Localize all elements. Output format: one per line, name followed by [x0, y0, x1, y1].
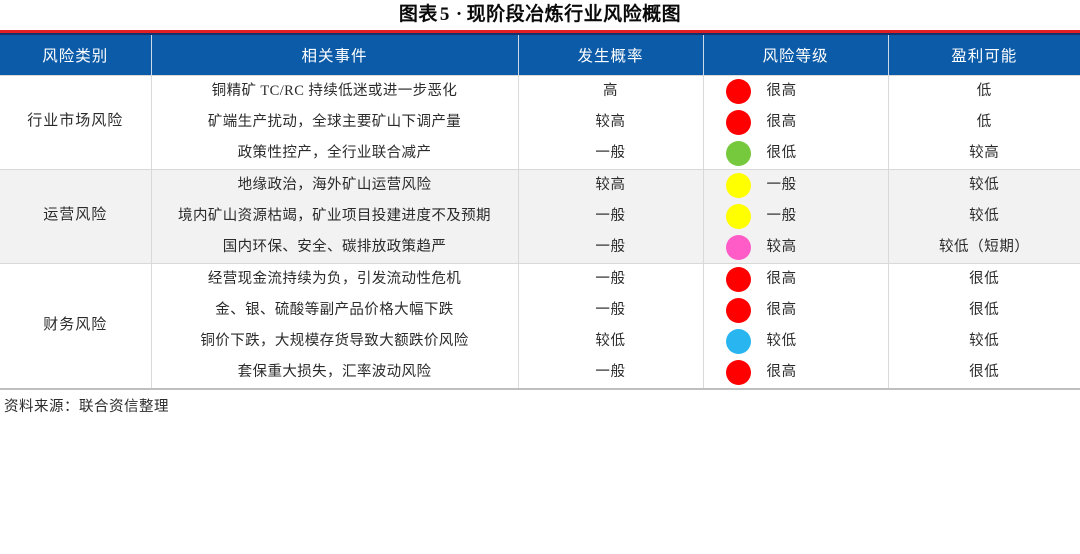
- risk-event-cell: 矿端生产扰动，全球主要矿山下调产量: [151, 107, 518, 138]
- table-header: 风险类别 相关事件 发生概率 风险等级 盈利可能: [0, 35, 1080, 75]
- risk-level-inner: 很高: [710, 298, 882, 323]
- table-row: 财务风险经营现金流持续为负，引发流动性危机一般很高很低: [0, 263, 1080, 295]
- probability-cell: 一般: [518, 357, 703, 388]
- risk-event-cell: 境内矿山资源枯竭，矿业项目投建进度不及预期: [151, 201, 518, 232]
- risk-level-cell: 一般: [703, 169, 888, 201]
- risk-level-inner: 很高: [710, 79, 882, 104]
- risk-level-label: 很高: [767, 299, 797, 321]
- column-header-probability: 发生概率: [518, 35, 703, 75]
- profit-possibility-cell: 低: [888, 75, 1080, 107]
- risk-level-inner: 一般: [710, 204, 882, 229]
- risk-level-cell: 很高: [703, 263, 888, 295]
- risk-level-inner: 一般: [710, 173, 882, 198]
- yellow-dot-icon: [726, 173, 751, 198]
- profit-possibility-cell: 很低: [888, 263, 1080, 295]
- probability-cell: 一般: [518, 263, 703, 295]
- risk-level-inner: 很高: [710, 110, 882, 135]
- risk-level-label: 较高: [767, 236, 797, 258]
- risk-level-cell: 很高: [703, 107, 888, 138]
- table-row: 金、银、硫酸等副产品价格大幅下跌一般很高很低: [0, 295, 1080, 326]
- risk-level-cell: 很高: [703, 357, 888, 388]
- risk-level-inner: 很低: [710, 141, 882, 166]
- table-row: 套保重大损失，汇率波动风险一般很高很低: [0, 357, 1080, 388]
- risk-level-cell: 一般: [703, 201, 888, 232]
- column-header-risk-level: 风险等级: [703, 35, 888, 75]
- risk-level-label: 一般: [767, 205, 797, 227]
- risk-event-cell: 政策性控产，全行业联合减产: [151, 138, 518, 170]
- risk-category-cell: 运营风险: [0, 169, 151, 263]
- risk-level-label: 很高: [767, 80, 797, 102]
- probability-cell: 一般: [518, 232, 703, 264]
- probability-cell: 较低: [518, 326, 703, 357]
- risk-level-label: 较低: [767, 330, 797, 352]
- probability-cell: 高: [518, 75, 703, 107]
- title-prefix: 图表: [399, 4, 438, 25]
- profit-possibility-cell: 很低: [888, 295, 1080, 326]
- risk-event-cell: 金、银、硫酸等副产品价格大幅下跌: [151, 295, 518, 326]
- red-dot-icon: [726, 360, 751, 385]
- magenta-dot-icon: [726, 235, 751, 260]
- risk-level-cell: 很低: [703, 138, 888, 170]
- risk-level-inner: 很高: [710, 267, 882, 292]
- risk-category-cell: 财务风险: [0, 263, 151, 388]
- risk-level-cell: 较低: [703, 326, 888, 357]
- table-row: 矿端生产扰动，全球主要矿山下调产量较高很高低: [0, 107, 1080, 138]
- risk-event-cell: 铜精矿 TC/RC 持续低迷或进一步恶化: [151, 75, 518, 107]
- column-header-category: 风险类别: [0, 35, 151, 75]
- profit-possibility-cell: 很低: [888, 357, 1080, 388]
- green-dot-icon: [726, 141, 751, 166]
- table-header-row: 风险类别 相关事件 发生概率 风险等级 盈利可能: [0, 35, 1080, 75]
- table-row: 国内环保、安全、碳排放政策趋严一般较高较低（短期）: [0, 232, 1080, 264]
- risk-level-inner: 很高: [710, 360, 882, 385]
- risk-event-cell: 国内环保、安全、碳排放政策趋严: [151, 232, 518, 264]
- table-row: 境内矿山资源枯竭，矿业项目投建进度不及预期一般一般较低: [0, 201, 1080, 232]
- risk-level-cell: 较高: [703, 232, 888, 264]
- title-separator: ·: [452, 4, 467, 25]
- cyan-dot-icon: [726, 329, 751, 354]
- table-row: 铜价下跌，大规模存货导致大额跌价风险较低较低较低: [0, 326, 1080, 357]
- red-dot-icon: [726, 298, 751, 323]
- probability-cell: 较高: [518, 107, 703, 138]
- table-row: 政策性控产，全行业联合减产一般很低较高: [0, 138, 1080, 170]
- profit-possibility-cell: 较低: [888, 201, 1080, 232]
- profit-possibility-cell: 较低（短期）: [888, 232, 1080, 264]
- risk-level-cell: 很高: [703, 295, 888, 326]
- title-number: 5: [438, 4, 452, 25]
- risk-level-label: 很高: [767, 361, 797, 383]
- figure-page: 图表5·现阶段冶炼行业风险概图 风险类别 相关事件 发生概率 风险等级 盈利可能…: [0, 0, 1080, 554]
- probability-cell: 较高: [518, 169, 703, 201]
- risk-event-cell: 套保重大损失，汇率波动风险: [151, 357, 518, 388]
- risk-level-label: 很低: [767, 142, 797, 164]
- page-title: 图表5·现阶段冶炼行业风险概图: [0, 0, 1080, 30]
- red-dot-icon: [726, 79, 751, 104]
- risk-level-label: 很高: [767, 111, 797, 133]
- profit-possibility-cell: 较低: [888, 326, 1080, 357]
- yellow-dot-icon: [726, 204, 751, 229]
- risk-event-cell: 地缘政治，海外矿山运营风险: [151, 169, 518, 201]
- profit-possibility-cell: 较低: [888, 169, 1080, 201]
- probability-cell: 一般: [518, 201, 703, 232]
- probability-cell: 一般: [518, 295, 703, 326]
- profit-possibility-cell: 低: [888, 107, 1080, 138]
- risk-level-inner: 较低: [710, 329, 882, 354]
- red-dot-icon: [726, 110, 751, 135]
- risk-event-cell: 铜价下跌，大规模存货导致大额跌价风险: [151, 326, 518, 357]
- title-text: 现阶段冶炼行业风险概图: [467, 4, 682, 25]
- table-row: 运营风险地缘政治，海外矿山运营风险较高一般较低: [0, 169, 1080, 201]
- risk-level-label: 很高: [767, 268, 797, 290]
- risk-overview-table: 风险类别 相关事件 发生概率 风险等级 盈利可能 行业市场风险铜精矿 TC/RC…: [0, 35, 1080, 388]
- probability-cell: 一般: [518, 138, 703, 170]
- risk-level-cell: 很高: [703, 75, 888, 107]
- table-bottom-rule: [0, 388, 1080, 390]
- red-dot-icon: [726, 267, 751, 292]
- table-body: 行业市场风险铜精矿 TC/RC 持续低迷或进一步恶化高很高低矿端生产扰动，全球主…: [0, 75, 1080, 388]
- risk-category-cell: 行业市场风险: [0, 75, 151, 169]
- risk-level-inner: 较高: [710, 235, 882, 260]
- risk-level-label: 一般: [767, 174, 797, 196]
- source-note: 资料来源：联合资信整理: [0, 390, 1080, 418]
- column-header-profit: 盈利可能: [888, 35, 1080, 75]
- risk-event-cell: 经营现金流持续为负，引发流动性危机: [151, 263, 518, 295]
- profit-possibility-cell: 较高: [888, 138, 1080, 170]
- table-row: 行业市场风险铜精矿 TC/RC 持续低迷或进一步恶化高很高低: [0, 75, 1080, 107]
- column-header-event: 相关事件: [151, 35, 518, 75]
- risk-table-wrap: 风险类别 相关事件 发生概率 风险等级 盈利可能 行业市场风险铜精矿 TC/RC…: [0, 30, 1080, 390]
